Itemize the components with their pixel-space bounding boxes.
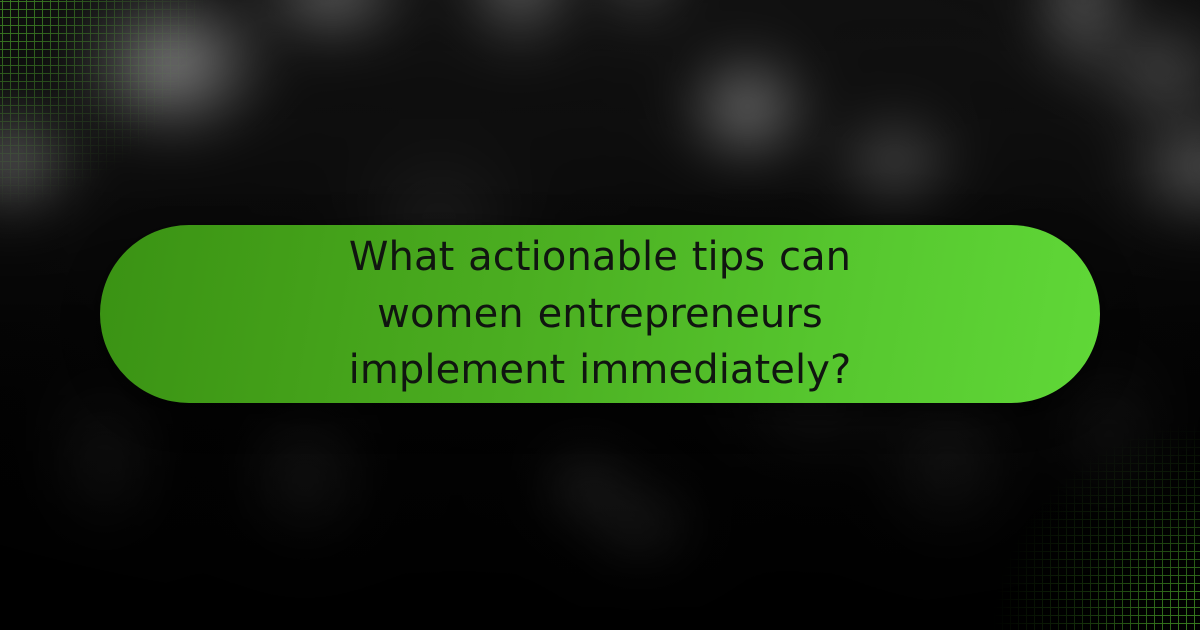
question-text: What actionable tips can women entrepren… <box>290 229 910 399</box>
question-card-canvas: What actionable tips can women entrepren… <box>0 0 1200 630</box>
dot-grid-bottom-right-icon <box>946 376 1200 630</box>
dot-grid-top-left-icon <box>0 0 254 254</box>
question-pill: What actionable tips can women entrepren… <box>100 225 1100 403</box>
question-pill-container: What actionable tips can women entrepren… <box>100 225 1100 403</box>
